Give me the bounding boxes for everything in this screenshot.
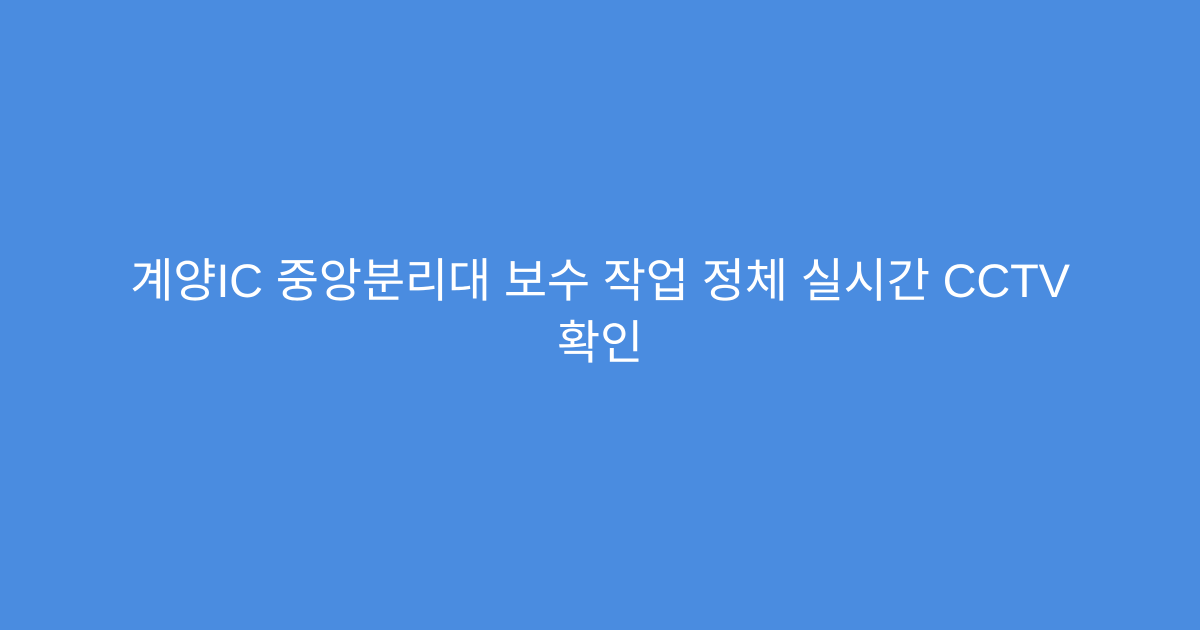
og-card-canvas: 계양IC 중앙분리대 보수 작업 정체 실시간 CCTV 확인	[0, 0, 1200, 630]
page-title: 계양IC 중앙분리대 보수 작업 정체 실시간 CCTV 확인	[88, 250, 1112, 374]
title-block: 계양IC 중앙분리대 보수 작업 정체 실시간 CCTV 확인	[80, 250, 1120, 374]
